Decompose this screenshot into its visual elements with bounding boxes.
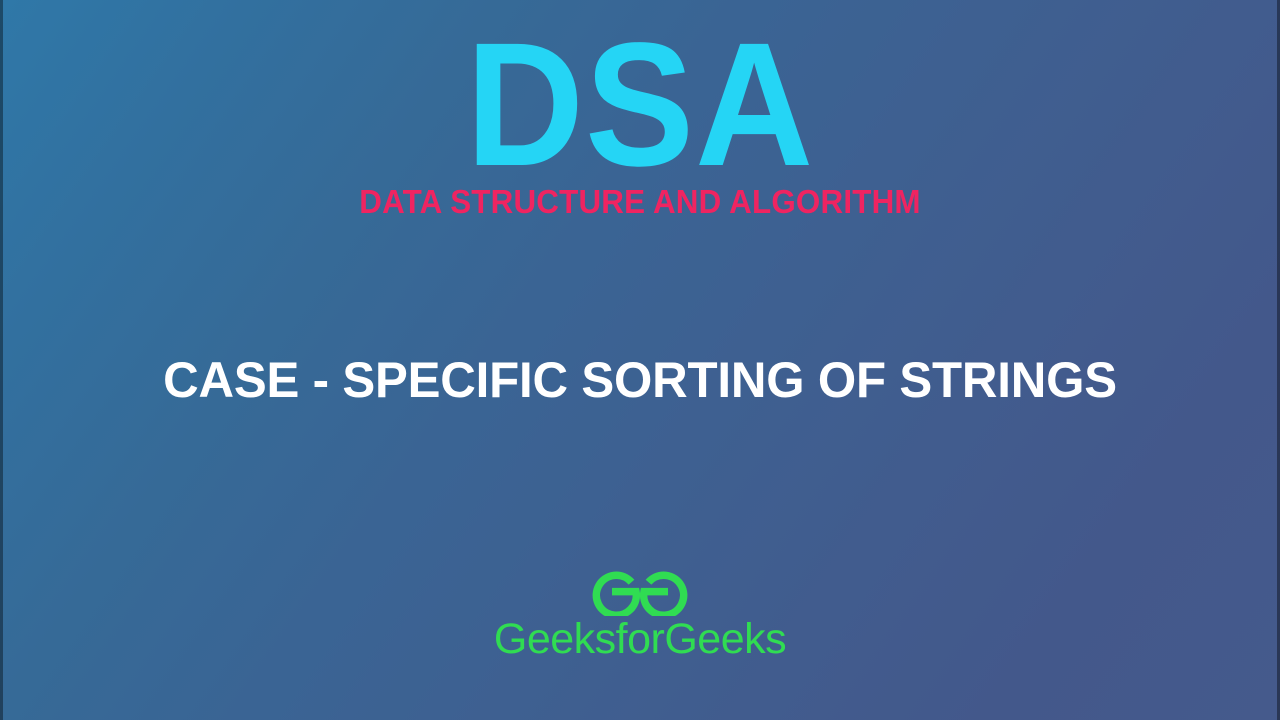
title-slide: DSA DATA STRUCTURE AND ALGORITHM CASE - … <box>0 0 1280 720</box>
logo-wordmark: GeeksforGeeks <box>0 618 1280 661</box>
geeksforgeeks-double-g-icon <box>591 566 689 616</box>
page-title: CASE - SPECIFIC SORTING OF STRINGS <box>10 355 1271 405</box>
brand-acronym: DSA <box>45 30 1235 181</box>
brand-block: DSA DATA STRUCTURE AND ALGORITHM <box>0 30 1280 218</box>
brand-logo: GeeksforGeeks <box>0 566 1280 661</box>
brand-expansion: DATA STRUCTURE AND ALGORITHM <box>32 185 1248 218</box>
